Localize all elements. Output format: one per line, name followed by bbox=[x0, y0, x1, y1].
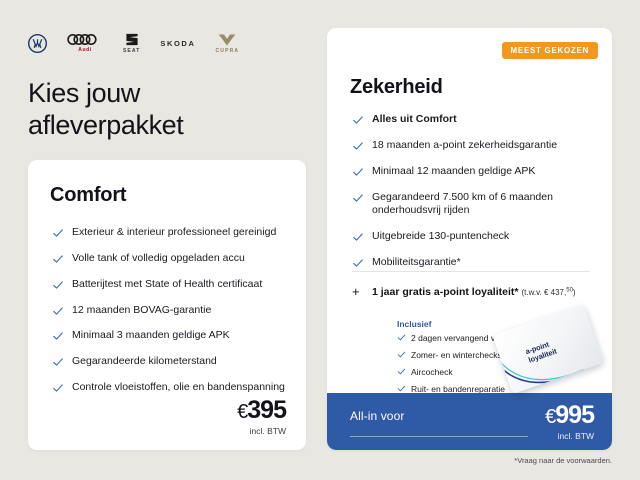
allin-label: All-in voor bbox=[350, 409, 404, 423]
audi-wordmark: Audi bbox=[78, 47, 92, 53]
list-item: 12 maanden BOVAG-garantie bbox=[52, 304, 288, 318]
check-icon bbox=[352, 114, 364, 126]
list-item-label: Mobiliteitsgarantie* bbox=[372, 256, 461, 268]
list-item-label: 12 maanden BOVAG-garantie bbox=[72, 304, 211, 316]
check-icon bbox=[52, 356, 64, 368]
list-item: Exterieur & interieur professioneel gere… bbox=[52, 226, 288, 240]
check-icon bbox=[52, 305, 64, 317]
loyalty-value-prefix: (t.w.v. € 437, bbox=[521, 288, 566, 297]
check-icon bbox=[397, 350, 406, 359]
list-item: Mobiliteitsgarantie* bbox=[352, 256, 592, 270]
list-item-label: Minimaal 3 maanden geldige APK bbox=[72, 329, 230, 341]
brand-logo-bar: Audi SEAT SKODA CUPRA bbox=[28, 31, 239, 55]
cupra-wordmark: CUPRA bbox=[215, 48, 239, 54]
page-title-line1: Kies jouw bbox=[28, 78, 140, 108]
list-item: Minimaal 3 maanden geldige APK bbox=[52, 329, 288, 343]
check-icon bbox=[52, 382, 64, 394]
loyalty-value-cents: 50 bbox=[566, 287, 573, 293]
comfort-feature-list: Exterieur & interieur professioneel gere… bbox=[52, 226, 288, 407]
check-icon bbox=[52, 330, 64, 342]
plus-icon: + bbox=[352, 286, 360, 298]
list-item: Volle tank of volledig opgeladen accu bbox=[52, 252, 288, 266]
list-item: Controle vloeistoffen, olie en bandenspa… bbox=[52, 381, 288, 395]
page-title: Kies jouw afleverpakket bbox=[28, 78, 306, 142]
check-icon bbox=[352, 166, 364, 178]
loyalty-header: + 1 jaar gratis a-point loyaliteit*(t.w.… bbox=[352, 286, 597, 300]
list-item-label: Volle tank of volledig opgeladen accu bbox=[72, 252, 245, 264]
divider bbox=[352, 271, 590, 272]
list-item-label: Aircocheck bbox=[411, 367, 453, 377]
list-item: Minimaal 12 maanden geldige APK bbox=[352, 165, 592, 179]
list-item: Batterijtest met State of Health certifi… bbox=[52, 278, 288, 292]
page-headline-block: Kies jouw afleverpakket bbox=[28, 78, 306, 142]
inclusief-label: Inclusief bbox=[397, 319, 431, 329]
comfort-price: €395 bbox=[237, 398, 286, 423]
currency-symbol: € bbox=[237, 401, 247, 423]
list-item-label: 18 maanden a-point zekerheidsgarantie bbox=[372, 139, 557, 151]
check-icon bbox=[352, 192, 364, 204]
skoda-logo: SKODA bbox=[160, 39, 195, 48]
package-card-zekerheid[interactable]: MEEST GEKOZEN Zekerheid Alles uit Comfor… bbox=[327, 28, 612, 450]
allin-price-note: incl. BTW bbox=[545, 431, 594, 441]
package-card-comfort[interactable]: Comfort Exterieur & interieur profession… bbox=[28, 160, 306, 450]
seat-wordmark: SEAT bbox=[123, 48, 140, 54]
list-item: Gegarandeerde kilometerstand bbox=[52, 355, 288, 369]
loyalty-value-suffix: ) bbox=[573, 288, 576, 297]
list-item-label: Gegarandeerde kilometerstand bbox=[72, 355, 217, 367]
cupra-logo: CUPRA bbox=[215, 33, 239, 54]
allin-price: €995 bbox=[545, 403, 594, 428]
list-item-label: Alles uit Comfort bbox=[372, 113, 457, 125]
footnote: *Vraag naar de voorwaarden. bbox=[514, 456, 612, 465]
check-icon bbox=[52, 227, 64, 239]
list-item-label: Batterijtest met State of Health certifi… bbox=[72, 278, 262, 290]
comfort-title: Comfort bbox=[50, 184, 126, 207]
loyalty-title: 1 jaar gratis a-point loyaliteit* bbox=[372, 286, 518, 298]
check-icon bbox=[352, 257, 364, 269]
list-item-label: Uitgebreide 130-puntencheck bbox=[372, 230, 509, 242]
list-item-label: Minimaal 12 maanden geldige APK bbox=[372, 165, 535, 177]
comfort-price-block: €395 incl. BTW bbox=[237, 398, 286, 436]
volkswagen-logo bbox=[28, 34, 47, 53]
check-icon bbox=[52, 279, 64, 291]
check-icon bbox=[52, 253, 64, 265]
currency-symbol: € bbox=[545, 406, 555, 428]
skoda-wordmark: SKODA bbox=[160, 39, 195, 48]
allin-price-block: €995 incl. BTW bbox=[545, 403, 594, 441]
status-badge: MEEST GEKOZEN bbox=[502, 42, 598, 59]
list-item-label: Exterieur & interieur professioneel gere… bbox=[72, 226, 276, 238]
list-item: Gegarandeerd 7.500 km of 6 maanden onder… bbox=[352, 191, 592, 219]
loyalty-value: (t.w.v. € 437,50) bbox=[521, 288, 575, 297]
allin-rule bbox=[350, 436, 528, 437]
check-icon bbox=[397, 333, 406, 342]
loyalty-block: + 1 jaar gratis a-point loyaliteit*(t.w.… bbox=[352, 286, 597, 300]
allin-price-amount: 995 bbox=[555, 401, 594, 429]
audi-logo: Audi bbox=[67, 33, 103, 53]
zekerheid-title: Zekerheid bbox=[350, 76, 443, 99]
list-item-label: Controle vloeistoffen, olie en bandenspa… bbox=[72, 381, 285, 393]
list-item-label: Zomer- en winterchecks bbox=[411, 350, 502, 360]
comfort-price-note: incl. BTW bbox=[237, 426, 286, 436]
allin-price-bar: All-in voor €995 incl. BTW bbox=[327, 393, 612, 450]
list-item: 18 maanden a-point zekerheidsgarantie bbox=[352, 139, 592, 153]
check-icon bbox=[352, 140, 364, 152]
list-item: Uitgebreide 130-puntencheck bbox=[352, 230, 592, 244]
delivery-package-page: Audi SEAT SKODA CUPRA Kies jouw afleverp… bbox=[0, 0, 640, 480]
list-item-label: Gegarandeerd 7.500 km of 6 maanden onder… bbox=[372, 191, 553, 217]
check-icon bbox=[352, 231, 364, 243]
zekerheid-feature-list: Alles uit Comfort 18 maanden a-point zek… bbox=[352, 113, 592, 282]
comfort-price-amount: 395 bbox=[247, 396, 286, 424]
page-title-line2: afleverpakket bbox=[28, 110, 183, 140]
list-item: Alles uit Comfort bbox=[352, 113, 592, 127]
seat-logo: SEAT bbox=[123, 32, 140, 54]
check-icon bbox=[397, 367, 406, 376]
